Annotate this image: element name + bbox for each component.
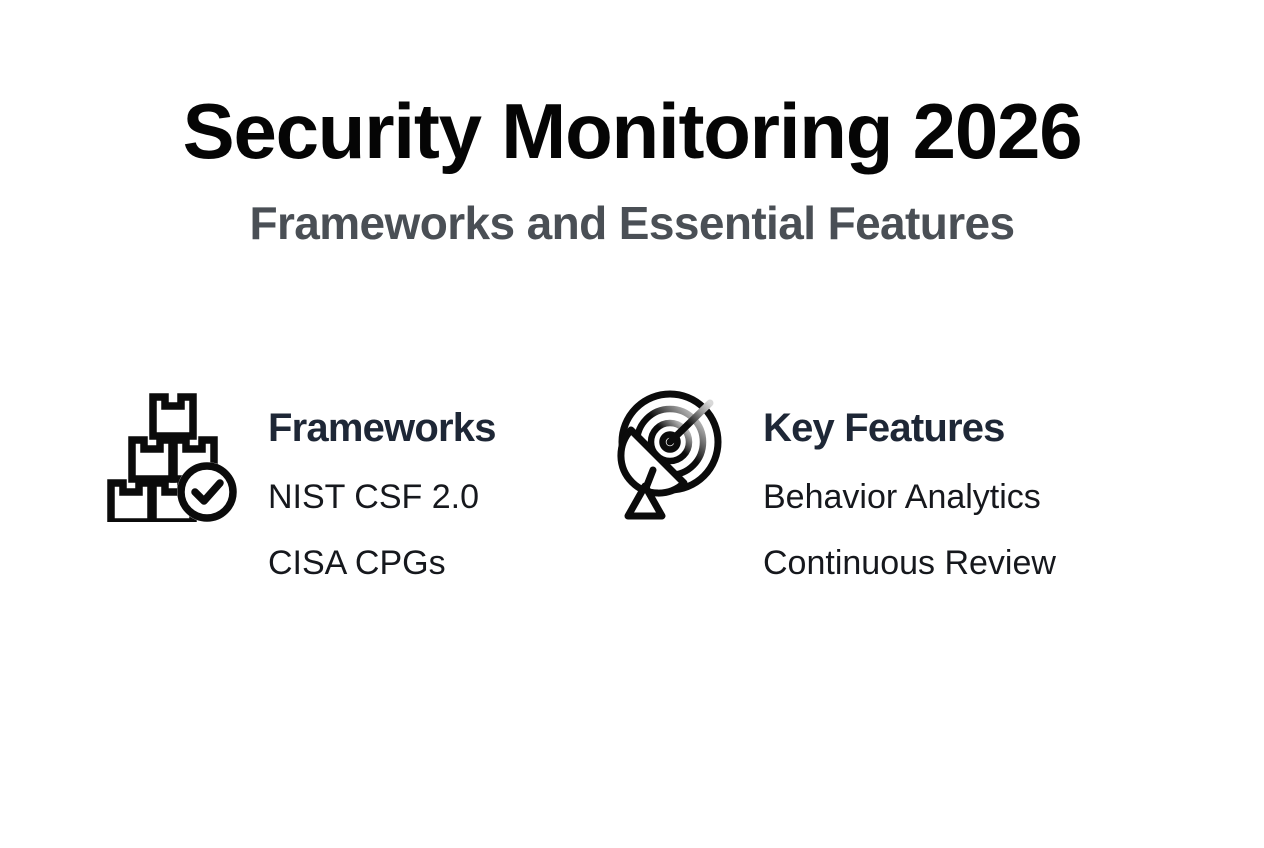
column-heading: Key Features [763,408,1056,448]
slide-canvas: Security Monitoring 2026 Frameworks and … [0,0,1264,848]
column-body: Key Features Behavior Analytics Continuo… [738,382,1056,580]
stacked-boxes-check-icon [103,382,243,522]
content-columns: Frameworks NIST CSF 2.0 CISA CPGs [0,382,1264,580]
column-item-list: Behavior Analytics Continuous Review [763,480,1056,580]
column-item-list: NIST CSF 2.0 CISA CPGs [268,480,496,580]
column-body: Frameworks NIST CSF 2.0 CISA CPGs [243,382,496,580]
slide-header: Security Monitoring 2026 Frameworks and … [0,92,1264,246]
list-item: CISA CPGs [268,546,496,580]
column-heading: Frameworks [268,408,496,448]
page-title: Security Monitoring 2026 [0,92,1264,170]
column-frameworks: Frameworks NIST CSF 2.0 CISA CPGs [0,382,585,580]
list-item: NIST CSF 2.0 [268,480,496,514]
radar-dish-icon [598,382,738,522]
column-key-features: Key Features Behavior Analytics Continuo… [585,382,1170,580]
page-subtitle: Frameworks and Essential Features [0,200,1264,246]
list-item: Behavior Analytics [763,480,1056,514]
list-item: Continuous Review [763,546,1056,580]
